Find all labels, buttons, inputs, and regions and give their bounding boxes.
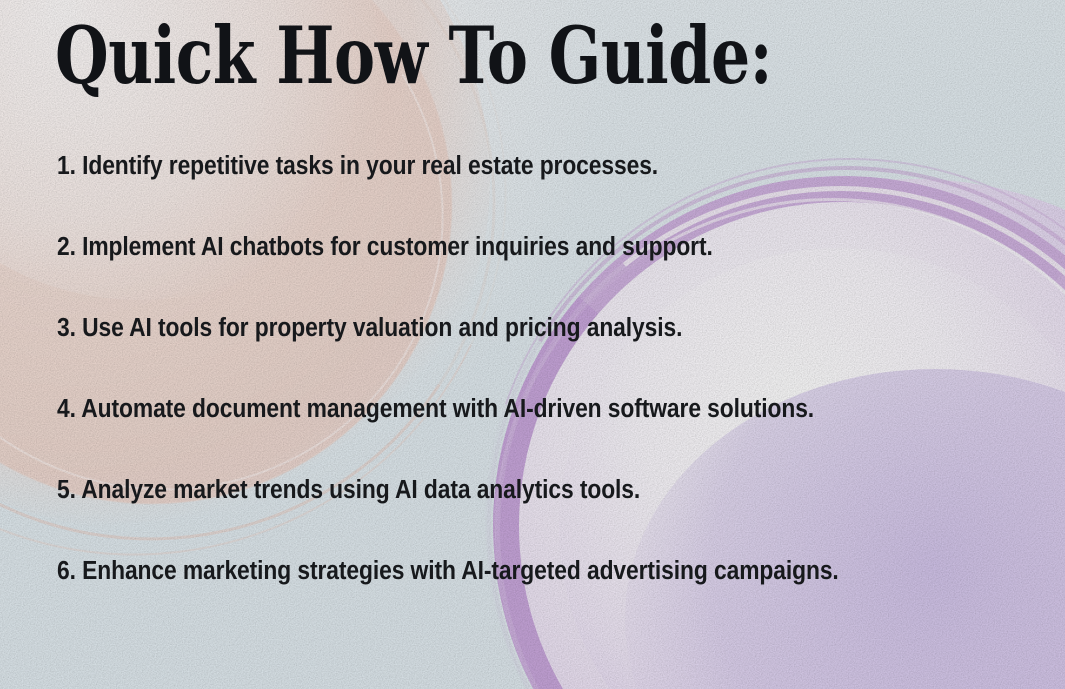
step-text: 5. Analyze market trends using AI data a… xyxy=(57,476,640,504)
page-title: Quick How To Guide: xyxy=(55,16,772,97)
list-item: 1. Identify repetitive tasks in your rea… xyxy=(57,152,1035,233)
poster-canvas: Quick How To Guide: 1. Identify repetiti… xyxy=(0,0,1065,689)
list-item: 5. Analyze market trends using AI data a… xyxy=(57,476,1035,557)
list-item: 2. Implement AI chatbots for customer in… xyxy=(57,233,1035,314)
step-text: 1. Identify repetitive tasks in your rea… xyxy=(57,152,658,180)
step-text: 3. Use AI tools for property valuation a… xyxy=(57,314,682,342)
list-item: 6. Enhance marketing strategies with AI-… xyxy=(57,557,1035,638)
step-text: 6. Enhance marketing strategies with AI-… xyxy=(57,557,839,585)
step-text: 2. Implement AI chatbots for customer in… xyxy=(57,233,713,261)
step-text: 4. Automate document management with AI-… xyxy=(57,395,814,423)
list-item: 3. Use AI tools for property valuation a… xyxy=(57,314,1035,395)
list-item: 4. Automate document management with AI-… xyxy=(57,395,1035,476)
poster-content: Quick How To Guide: 1. Identify repetiti… xyxy=(0,0,1065,689)
steps-list: 1. Identify repetitive tasks in your rea… xyxy=(57,152,1035,638)
